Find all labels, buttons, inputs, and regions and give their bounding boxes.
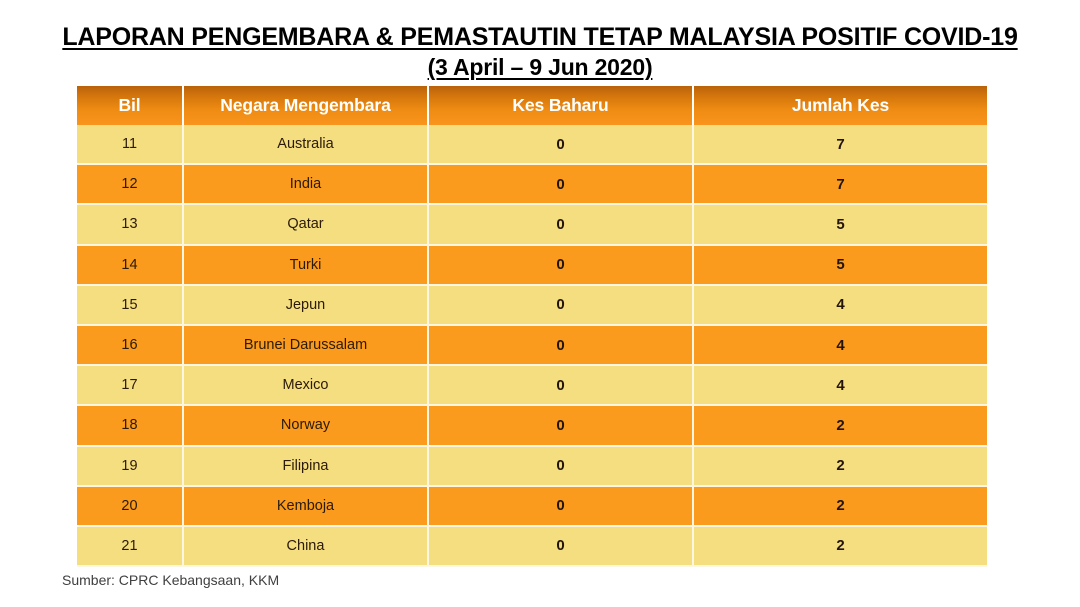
cell-negara: Australia [183,125,428,164]
cell-bil: 11 [77,125,183,164]
cell-kes-baharu: 0 [428,365,693,405]
cell-negara: Qatar [183,204,428,244]
cell-bil: 12 [77,164,183,204]
report-table-container: Bil Negara Mengembara Kes Baharu Jumlah … [77,86,987,567]
cell-bil: 21 [77,526,183,566]
cell-kes-baharu: 0 [428,285,693,325]
cell-bil: 15 [77,285,183,325]
cell-bil: 20 [77,486,183,526]
cell-bil: 19 [77,446,183,486]
title-line-main: LAPORAN PENGEMBARA & PEMASTAUTIN TETAP M… [62,22,1017,53]
cell-kes-baharu: 0 [428,245,693,285]
cell-kes-baharu: 0 [428,526,693,566]
cell-bil: 13 [77,204,183,244]
page-title: LAPORAN PENGEMBARA & PEMASTAUTIN TETAP M… [0,0,1080,81]
cell-jumlah-kes: 4 [693,325,987,365]
cell-kes-baharu: 0 [428,446,693,486]
table-row: 15Jepun04 [77,285,987,325]
cell-negara: Turki [183,245,428,285]
report-table: Bil Negara Mengembara Kes Baharu Jumlah … [77,86,987,567]
cell-jumlah-kes: 7 [693,125,987,164]
table-row: 12India07 [77,164,987,204]
cell-jumlah-kes: 4 [693,365,987,405]
cell-negara: India [183,164,428,204]
cell-jumlah-kes: 2 [693,446,987,486]
table-header: Bil Negara Mengembara Kes Baharu Jumlah … [77,86,987,125]
cell-kes-baharu: 0 [428,486,693,526]
title-line-daterange: (3 April – 9 Jun 2020) [428,53,653,81]
cell-bil: 18 [77,405,183,445]
cell-negara: Brunei Darussalam [183,325,428,365]
table-row: 17Mexico04 [77,365,987,405]
cell-kes-baharu: 0 [428,405,693,445]
table-row: 11Australia07 [77,125,987,164]
cell-bil: 14 [77,245,183,285]
cell-jumlah-kes: 4 [693,285,987,325]
table-row: 14Turki05 [77,245,987,285]
cell-negara: Jepun [183,285,428,325]
cell-negara: Filipina [183,446,428,486]
table-row: 19Filipina02 [77,446,987,486]
table-row: 13Qatar05 [77,204,987,244]
cell-kes-baharu: 0 [428,164,693,204]
cell-negara: Norway [183,405,428,445]
cell-jumlah-kes: 5 [693,204,987,244]
cell-negara: China [183,526,428,566]
cell-jumlah-kes: 2 [693,405,987,445]
cell-jumlah-kes: 2 [693,486,987,526]
table-row: 21China02 [77,526,987,566]
table-row: 16Brunei Darussalam04 [77,325,987,365]
cell-bil: 16 [77,325,183,365]
cell-kes-baharu: 0 [428,204,693,244]
cell-bil: 17 [77,365,183,405]
column-header-jumlah-kes: Jumlah Kes [693,86,987,125]
column-header-negara: Negara Mengembara [183,86,428,125]
table-row: 20Kemboja02 [77,486,987,526]
cell-kes-baharu: 0 [428,125,693,164]
table-row: 18Norway02 [77,405,987,445]
column-header-bil: Bil [77,86,183,125]
cell-negara: Mexico [183,365,428,405]
column-header-kes-baharu: Kes Baharu [428,86,693,125]
table-header-row: Bil Negara Mengembara Kes Baharu Jumlah … [77,86,987,125]
cell-negara: Kemboja [183,486,428,526]
table-body: 11Australia0712India0713Qatar0514Turki05… [77,125,987,566]
cell-kes-baharu: 0 [428,325,693,365]
cell-jumlah-kes: 2 [693,526,987,566]
cell-jumlah-kes: 7 [693,164,987,204]
source-note: Sumber: CPRC Kebangsaan, KKM [62,572,279,588]
cell-jumlah-kes: 5 [693,245,987,285]
